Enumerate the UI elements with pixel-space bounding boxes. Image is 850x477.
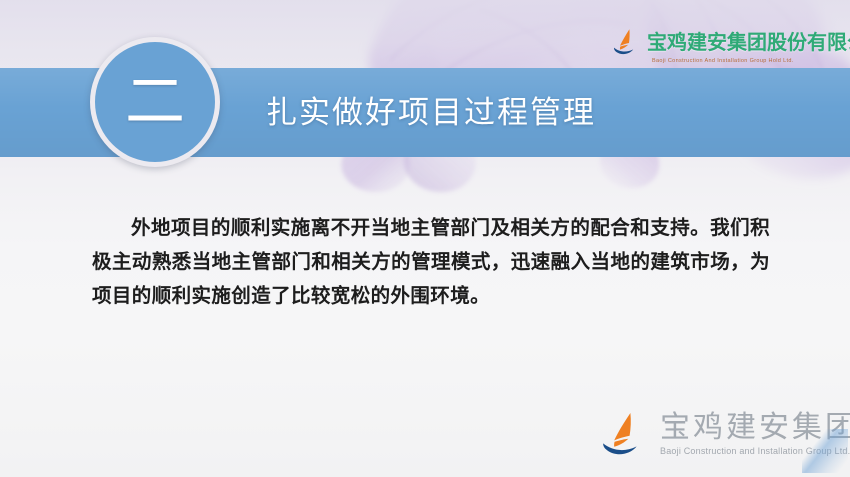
company-logo-footer: 宝鸡建安集团 Baoji Construction and Installati… (600, 411, 850, 473)
company-name-en: Baoji Construction And Installation Grou… (652, 59, 848, 65)
company-name-cn: 宝鸡建安集团股份有限公司 (647, 32, 850, 52)
section-title: 扎实做好项目过程管理 (266, 96, 596, 132)
company-logo-header-row: 宝鸡建安集团股份有限公司 (612, 28, 848, 56)
company-logo-footer-text: 宝鸡建安集团 Baoji Construction and Installati… (660, 412, 850, 456)
company-logo-header: 宝鸡建安集团股份有限公司 Baoji Construction And Inst… (612, 28, 848, 76)
baoji-sail-flame-icon-large (600, 411, 652, 457)
baoji-sail-flame-icon (612, 28, 642, 56)
brand-name-cn: 宝鸡建安集团 (660, 412, 850, 444)
slide-body-paragraph: 外地项目的顺利实施离不开当地主管部门及相关方的配合和支持。我们积极主动熟悉当地主… (92, 211, 770, 313)
presentation-slide: 二 扎实做好项目过程管理 宝鸡建安集团股份有限公司 Baoji Construc… (0, 0, 850, 477)
company-logo-footer-row: 宝鸡建安集团 Baoji Construction and Installati… (600, 411, 850, 457)
section-number-badge: 二 (90, 37, 220, 167)
brand-name-en: Baoji Construction and Installation Grou… (660, 447, 850, 456)
section-number-label: 二 (125, 72, 185, 132)
